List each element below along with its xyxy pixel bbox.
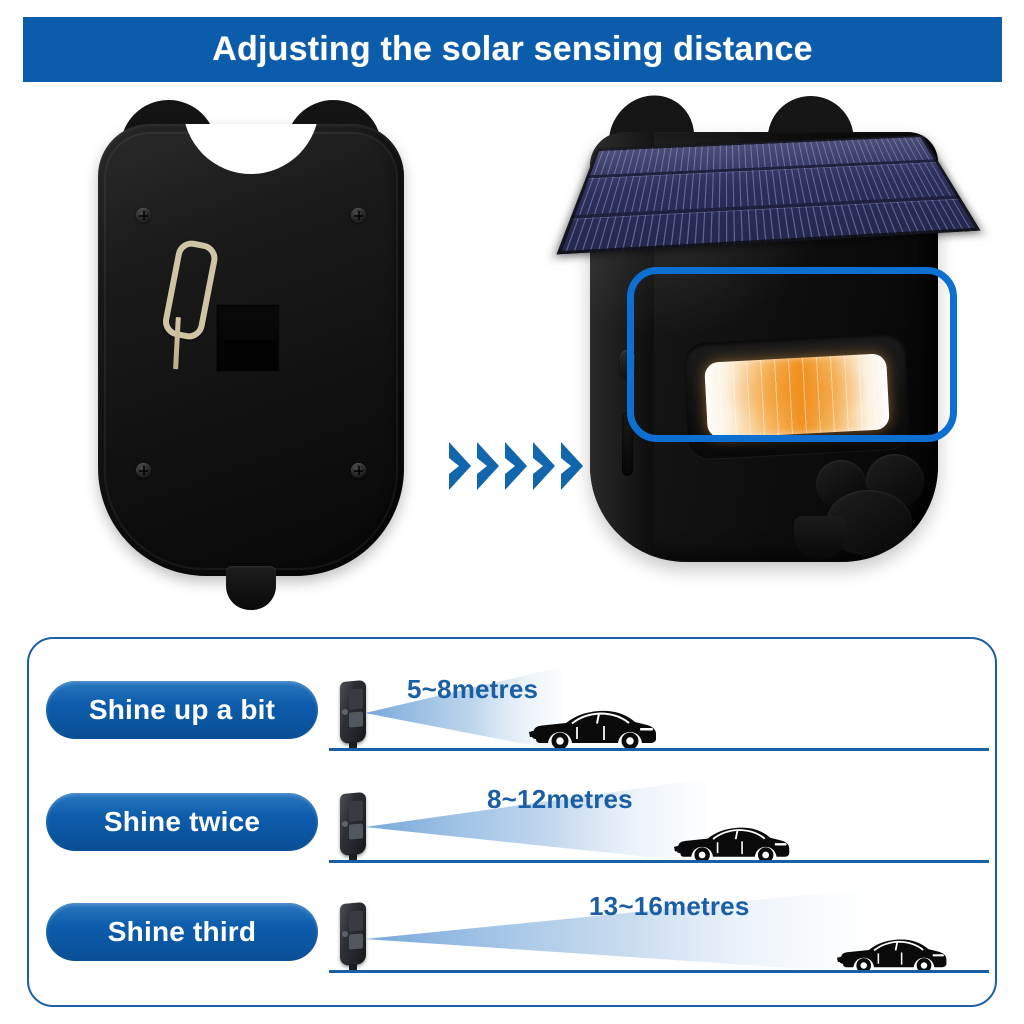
screw-top-left-icon — [136, 208, 151, 223]
chevron-right-icon — [503, 440, 529, 492]
distance-mode-label: Shine twice — [104, 806, 260, 838]
chevron-right-icon — [531, 440, 557, 492]
screw-top-right-icon — [351, 208, 366, 223]
device-icon-sensor — [342, 709, 348, 715]
mode-button[interactable] — [620, 350, 635, 378]
device-icon-sensor — [342, 931, 348, 937]
wall-mount-tab-back — [226, 566, 276, 610]
device-icon-solar — [349, 688, 363, 709]
distance-mode-label: Shine up a bit — [89, 694, 275, 726]
side-vent — [622, 412, 633, 476]
product-showcase — [0, 82, 1024, 622]
device-icon-lamp — [349, 711, 363, 727]
device-back-body — [98, 124, 404, 576]
chevron-right-icon — [475, 440, 501, 492]
distance-mode-pill[interactable]: Shine twice — [46, 793, 318, 851]
distance-mode-label: Shine third — [108, 916, 256, 948]
amber-led-light-panel — [704, 353, 890, 438]
distance-row: Shine third 13~16metres — [29, 877, 999, 987]
solar-sensor-light-front-view — [572, 92, 962, 612]
distance-row: Shine up a bit 5~8metres — [29, 655, 999, 765]
device-icon-solar — [349, 910, 363, 931]
distance-settings-panel: Shine up a bit 5~8metres — [27, 637, 997, 1007]
distance-value-label: 13~16metres — [589, 891, 750, 922]
ground-line — [329, 970, 989, 973]
device-icon-lamp — [349, 933, 363, 949]
screw-bottom-right-icon — [351, 463, 366, 478]
distance-mode-pill[interactable]: Shine third — [46, 903, 318, 961]
device-icon-solar — [349, 800, 363, 821]
ground-line — [329, 860, 989, 863]
device-icon-sensor — [342, 821, 348, 827]
screw-bottom-left-icon — [136, 463, 151, 478]
progress-chevrons — [447, 440, 585, 492]
lamp-recess — [683, 332, 911, 459]
page-title: Adjusting the solar sensing distance — [212, 30, 812, 69]
solar-sensor-light-back-view — [98, 100, 404, 610]
distance-value-label: 5~8metres — [407, 674, 538, 705]
ground-line — [329, 748, 989, 751]
battery-compartment-door — [216, 304, 280, 372]
car-silhouette-icon — [674, 825, 792, 870]
chevron-right-icon — [447, 440, 473, 492]
device-icon-lamp — [349, 823, 363, 839]
distance-value-label: 8~12metres — [487, 784, 633, 815]
header-banner: Adjusting the solar sensing distance — [23, 17, 1002, 82]
car-silhouette-icon — [837, 937, 949, 980]
distance-row: Shine twice 8~12metres — [29, 767, 999, 877]
led-segments — [704, 353, 890, 438]
distance-mode-pill[interactable]: Shine up a bit — [46, 681, 318, 739]
